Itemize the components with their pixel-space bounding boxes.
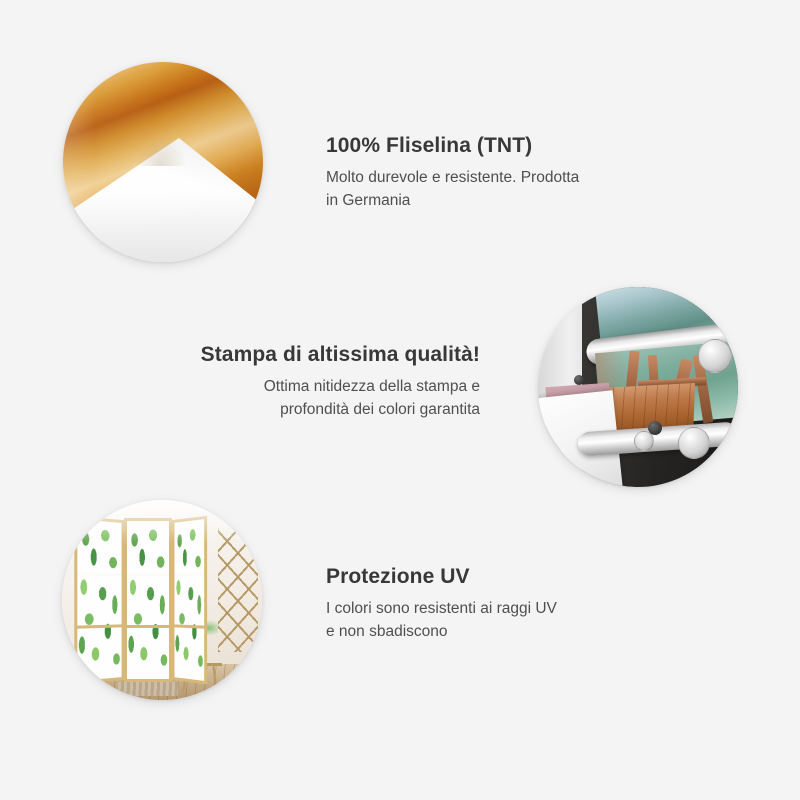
feature-body-line-1: Ottima nitidezza della stampa e [98, 376, 480, 398]
feature-heading: Stampa di altissima qualità! [98, 342, 480, 367]
feature-panel: 100% Fliselina (TNT) Molto durevole e re… [0, 0, 800, 800]
image-top-fade [62, 500, 262, 544]
feature-copy-fliselina: 100% Fliselina (TNT) Molto durevole e re… [326, 133, 726, 212]
wall-trellis-decor [218, 528, 258, 652]
feature-heading: Protezione UV [326, 564, 726, 589]
feature-heading: 100% Fliselina (TNT) [326, 133, 726, 158]
feature-body-line-2: e non sbadiscono [326, 621, 726, 643]
feature-copy-protezione-uv: Protezione UV I colori sono resistenti a… [326, 564, 726, 643]
roller-end-disc [698, 339, 732, 373]
wallpaper-base-shadow [63, 194, 263, 262]
feature-body-line-1: Molto durevole e resistente. Prodotta [326, 167, 726, 189]
feature-copy-stampa-qualita: Stampa di altissima qualità! Ottima niti… [98, 342, 480, 421]
feature-image-printing-machine-rollers-photo [538, 287, 738, 487]
wallpaper-curl-shadow [135, 134, 187, 166]
room-divider-illustration [62, 500, 262, 700]
feature-body-line-2: profondità dei colori garantita [98, 399, 480, 421]
machine-knob [648, 421, 662, 435]
room-rug [118, 682, 178, 696]
feature-image-tropical-leaf-room-divider-photo [62, 500, 262, 700]
feature-body-line-2: in Germania [326, 190, 726, 212]
feature-image-peeling-wallpaper-corner-photo [63, 62, 263, 262]
tropical-leaf-pattern [127, 521, 169, 679]
wallpaper-roll-illustration [63, 62, 263, 262]
machine-knob [574, 375, 584, 385]
printing-machine-illustration [538, 287, 738, 487]
feature-body-line-1: I colori sono resistenti ai raggi UV [326, 598, 726, 620]
roller-end-disc [678, 427, 710, 459]
